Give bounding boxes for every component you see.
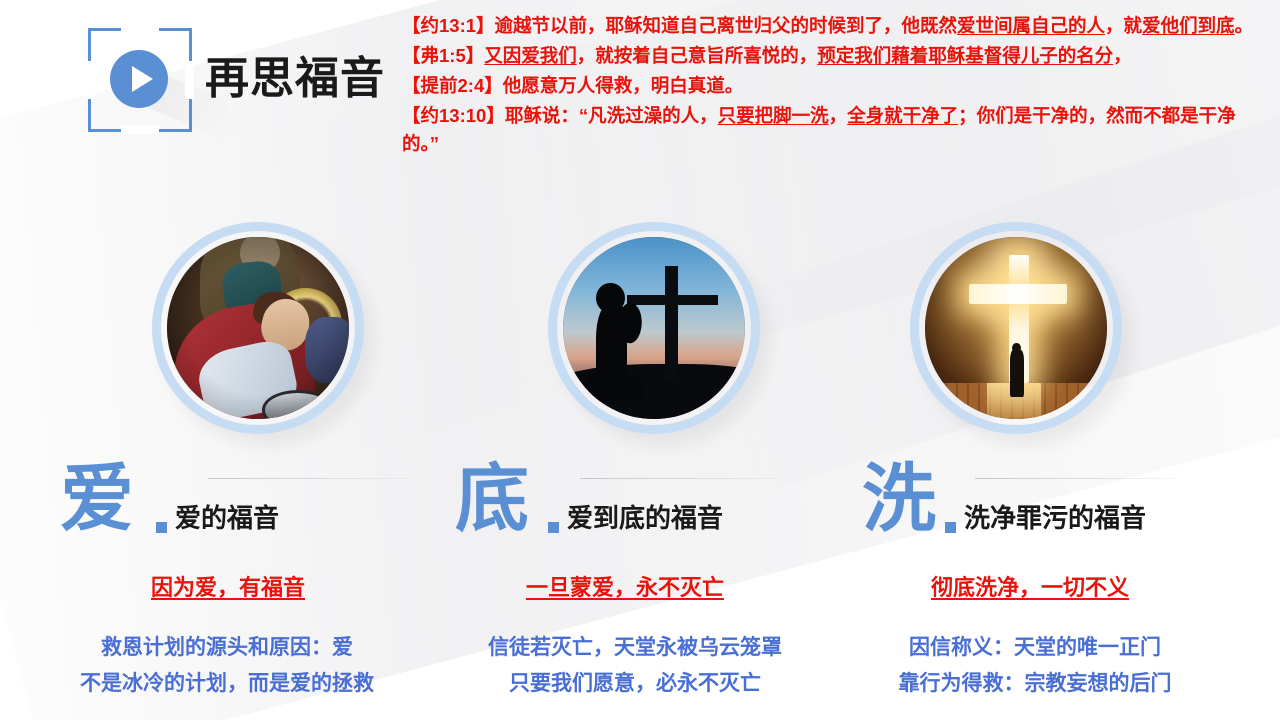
play-button-in-frame-icon	[88, 28, 192, 132]
photo-circle-2	[548, 222, 760, 434]
heading-divider-line-2	[580, 478, 780, 479]
slide-canvas: 再思福音 【约13:1】逾越节以前，耶稣知道自己离世归父的时候到了，他既然爱世间…	[0, 0, 1280, 720]
photo-ring-border-3	[910, 222, 1122, 434]
slogan-1-text: 因为爱，有福音	[151, 575, 305, 600]
bullets-column-3: 因信称义：天堂的唯一正门 靠行为得救：宗教妄想的后门	[820, 630, 1250, 702]
bullets-column-1: 救恩计划的源头和原因：爱 不是冰冷的计划，而是爱的拯救	[12, 630, 442, 702]
scripture-block: 【约13:1】逾越节以前，耶稣知道自己离世归父的时候到了，他既然爱世间属自己的人…	[402, 12, 1268, 161]
bullet-line: 只要我们愿意，必永不灭亡	[420, 666, 850, 702]
slogan-2-text: 一旦蒙爱，永不灭亡	[526, 575, 724, 600]
photo-circle-1	[152, 222, 364, 434]
heading-subtitle-3: 洗净罪污的福音	[964, 498, 1146, 535]
bullet-line: 不是冰冷的计划，而是爱的拯救	[12, 666, 442, 702]
slogan-2: 一旦蒙爱，永不灭亡	[425, 570, 825, 602]
page-title: 再思福音	[205, 42, 385, 106]
scripture-line-2: 【弗1:5】又因爱我们，就按着自己意旨所喜悦的，预定我们藉着耶稣基督得儿子的名分…	[402, 42, 1268, 70]
scripture-line-1: 【约13:1】逾越节以前，耶稣知道自己离世归父的时候到了，他既然爱世间属自己的人…	[402, 12, 1268, 40]
heading-divider-line-1	[208, 478, 408, 479]
photo-ring-border-2	[548, 222, 760, 434]
logo-frame-gap-right	[185, 61, 194, 99]
scripture-line-4: 【约13:10】耶稣说：“凡洗过澡的人，只要把脚一洗，全身就干净了；你们是干净的…	[402, 102, 1268, 158]
big-character-1: 爱	[60, 462, 134, 536]
heading-subtitle-2: 爱到底的福音	[567, 498, 723, 535]
heading-square-dot-1	[156, 522, 167, 533]
play-triangle-icon	[132, 66, 153, 92]
slogan-3-text: 彻底洗净，一切不义	[931, 575, 1129, 600]
bullets-column-2: 信徒若灭亡，天堂永被乌云笼罩 只要我们愿意，必永不灭亡	[420, 630, 850, 702]
bullet-line: 信徒若灭亡，天堂永被乌云笼罩	[420, 630, 850, 666]
heading-subtitle-1: 爱的福音	[175, 498, 279, 535]
bullet-line: 救恩计划的源头和原因：爱	[12, 630, 442, 666]
big-character-3: 洗	[862, 462, 936, 536]
photo-ring-border-1	[152, 222, 364, 434]
slogan-1: 因为爱，有福音	[28, 570, 428, 602]
play-circle	[110, 50, 168, 108]
scripture-line-3: 【提前2:4】他愿意万人得救，明白真道。	[402, 72, 1268, 100]
heading-square-dot-2	[548, 522, 559, 533]
bullet-line: 因信称义：天堂的唯一正门	[820, 630, 1250, 666]
slogan-3: 彻底洗净，一切不义	[830, 570, 1230, 602]
heading-divider-line-3	[975, 478, 1175, 479]
logo-frame-gap-left	[86, 61, 95, 99]
photo-circle-3	[910, 222, 1122, 434]
big-character-2: 底	[455, 462, 529, 536]
heading-square-dot-3	[945, 522, 956, 533]
bullet-line: 靠行为得救：宗教妄想的后门	[820, 666, 1250, 702]
